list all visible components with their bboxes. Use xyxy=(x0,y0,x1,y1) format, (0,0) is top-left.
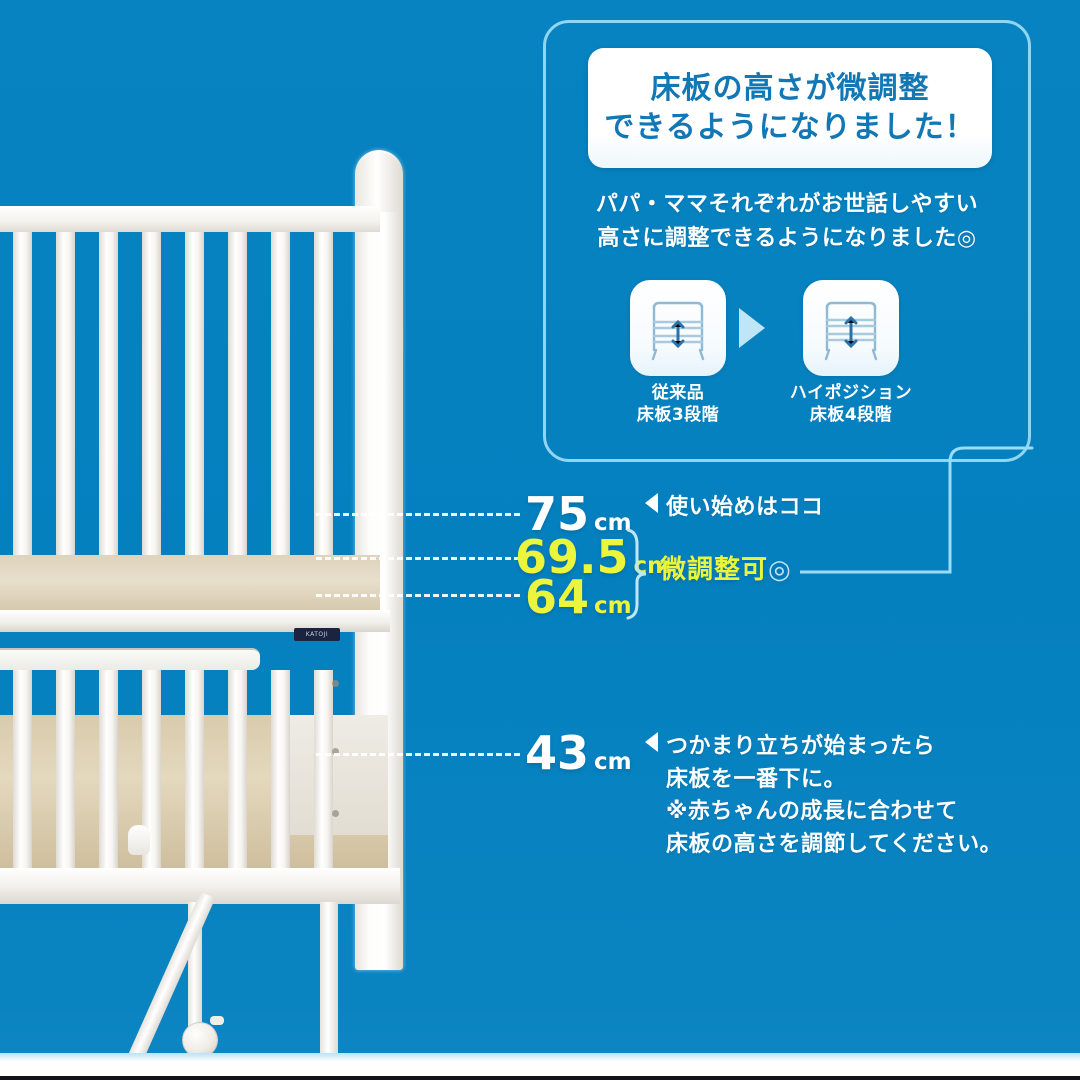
crib-inner-shadow xyxy=(290,715,388,835)
range-brace xyxy=(624,528,650,620)
leader-line-69cm xyxy=(316,557,520,560)
crib-adjust-hole xyxy=(332,680,339,687)
crib-post-cap xyxy=(358,152,400,212)
caster-stem xyxy=(210,1016,224,1025)
leader-line-43cm xyxy=(316,753,520,756)
comparison-block: 従来品 床板3段階 xyxy=(543,280,1031,450)
brand-plate: KATOJI xyxy=(294,628,340,641)
leader-line-75cm xyxy=(316,513,520,516)
subtitle-line-1: パパ・ママそれぞれがお世話しやすい xyxy=(543,188,1031,222)
fine-adjust-text: 微調整可 xyxy=(660,555,768,585)
note-line-2: 床板を一番下に。 xyxy=(645,764,1002,797)
headline-line-2: できるようになりました！ xyxy=(604,110,975,145)
leader-line-64cm xyxy=(316,594,520,597)
bottom-white-strip xyxy=(0,1053,1080,1077)
connector-line xyxy=(800,440,1040,594)
measurement-43cm: 43 cm xyxy=(525,726,632,780)
note-75cm: 使い始めはココ xyxy=(645,492,824,525)
crib-top-rail xyxy=(0,206,380,232)
caption-line-2: 床板4段階 xyxy=(771,404,931,426)
note-line-1-row: つかまり立ちが始まったら xyxy=(645,731,1002,764)
headline-line-1: 床板の高さが微調整 xyxy=(651,71,930,106)
brand-plate-label: KATOJI xyxy=(294,628,340,641)
crib-slat xyxy=(142,222,161,557)
fine-adjust-label: 微調整可◎ xyxy=(660,549,792,586)
note-43cm: つかまり立ちが始まったら 床板を一番下に。 ※赤ちゃんの成長に合わせて 床板の高… xyxy=(645,731,1002,861)
crib-slat xyxy=(56,222,75,557)
note-line-4: 床板の高さを調節してください。 xyxy=(645,829,1002,862)
pointer-triangle-icon xyxy=(645,732,658,752)
note-line-3: ※赤ちゃんの成長に合わせて xyxy=(645,796,1002,829)
crib-slat xyxy=(271,222,290,557)
caption-line-1: ハイポジション xyxy=(771,382,931,404)
measurement-value: 64 xyxy=(525,570,589,624)
comparison-caption-conventional: 従来品 床板3段階 xyxy=(598,382,758,426)
note-line-1: つかまり立ちが始まったら xyxy=(666,734,935,759)
measurement-unit: cm xyxy=(594,749,632,775)
crib-slat xyxy=(228,222,247,557)
crib-upper-floor-board xyxy=(0,555,380,613)
crib-four-level-icon xyxy=(803,280,899,376)
infographic-root: KATOJI 床板の高さが微 xyxy=(0,0,1080,1080)
comparison-caption-high-position: ハイポジション 床板4段階 xyxy=(771,382,931,426)
comparison-arrow-icon xyxy=(739,308,765,348)
caption-line-2: 床板3段階 xyxy=(598,404,758,426)
crib-product-photo: KATOJI xyxy=(0,150,450,1050)
subtitle-line-2: 高さに調整できるようになりました◎ xyxy=(543,222,1031,256)
crib-slat xyxy=(99,222,118,557)
measurement-value: 43 xyxy=(525,726,589,780)
measurement-64cm: 64 cm xyxy=(525,570,632,624)
caption-line-1: 従来品 xyxy=(598,382,758,404)
crib-adjust-hole xyxy=(332,810,339,817)
crib-latch-knob xyxy=(128,825,150,855)
crib-slat xyxy=(13,222,32,557)
comparison-item-high-position: ハイポジション 床板4段階 xyxy=(771,280,931,426)
crib-three-level-icon xyxy=(630,280,726,376)
double-circle-icon: ◎ xyxy=(768,555,792,585)
subtitle-block: パパ・ママそれぞれがお世話しやすい 高さに調整できるようになりました◎ xyxy=(543,188,1031,256)
pointer-triangle-icon xyxy=(645,493,658,513)
crib-slat xyxy=(185,222,204,557)
bottom-rule xyxy=(0,1076,1080,1080)
headline-banner: 床板の高さが微調整 できるようになりました！ xyxy=(588,48,992,168)
crib-slat xyxy=(314,222,333,557)
crib-drop-side-rail xyxy=(0,648,260,670)
comparison-item-conventional: 従来品 床板3段階 xyxy=(598,280,758,426)
